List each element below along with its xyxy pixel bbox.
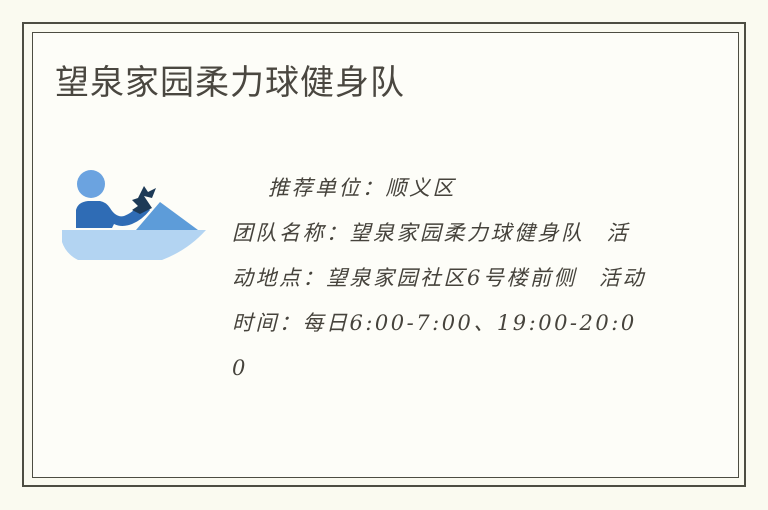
location-value: 望泉家园社区6号楼前侧 [326,266,577,290]
team-info-text: 推荐单位：顺义区 团队名称：望泉家园柔力球健身队活动地点：望泉家园社区6号楼前侧… [232,166,652,391]
bird-shape [132,186,156,214]
person-with-bird-illustration [58,166,208,270]
water-base-shape [62,230,206,260]
page-title: 望泉家园柔力球健身队 [55,60,695,106]
recommending-unit-value: 顺义区 [386,176,457,200]
recommending-unit-label: 推荐单位： [268,176,386,200]
page-root: 望泉家园柔力球健身队 推荐单位：顺义区 团队名称：望泉家园柔力球健身队活动地点：… [0,0,768,510]
team-name-value: 望泉家园柔力球健身队 [350,221,585,245]
team-name-label: 团队名称： [232,221,350,245]
figure-head-shape [77,170,105,198]
